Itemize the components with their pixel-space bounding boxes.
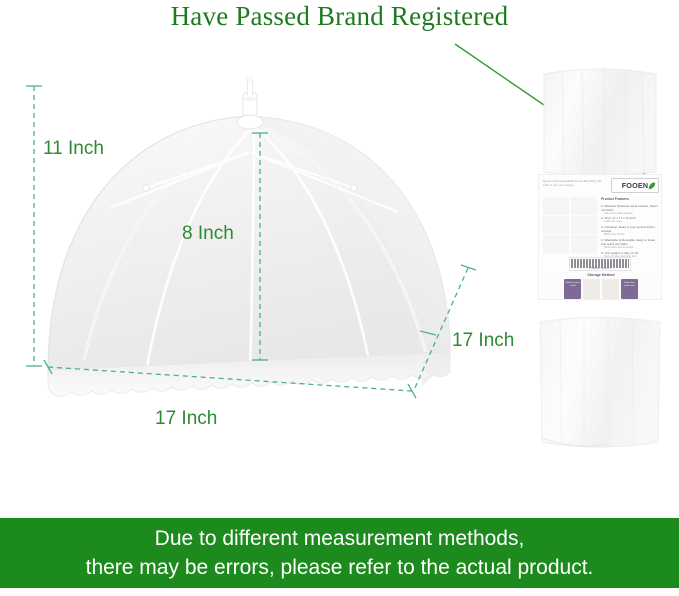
dimension-label-depth: 17 Inch xyxy=(452,330,514,352)
label-header-text: Nylon Umbrella Mesh Food Net Only 30 inc… xyxy=(543,179,605,188)
label-photo xyxy=(543,216,569,234)
storage-method-title: Storage Method xyxy=(539,273,662,277)
leaf-icon xyxy=(648,182,656,190)
storage-step-text: Fold the cover in half xyxy=(565,282,580,288)
product-infographic-page: Have Passed Brand Registered xyxy=(0,0,679,596)
mesh-packaging-bag-bottom xyxy=(534,310,666,455)
product-label-card: Nylon Umbrella Mesh Food Net Only 30 inc… xyxy=(538,174,662,300)
label-photo xyxy=(543,235,569,253)
disclaimer-banner: Due to different measurement methods, th… xyxy=(0,518,679,588)
disclaimer-line-1: Due to different measurement methods, xyxy=(155,525,525,552)
storage-step xyxy=(545,279,562,299)
label-product-features: Product Features 1. Material: Stainless … xyxy=(601,197,659,259)
feature-item: 4. Washable & Reusable: Easy to clean an… xyxy=(601,238,659,249)
feature-sub: Hand wash recommended xyxy=(601,246,659,249)
feature-main: 1. Material: Stainless steel bracket, Ny… xyxy=(601,204,659,212)
storage-method-steps: Fold the cover in half Twist into a smal… xyxy=(545,279,657,299)
label-product-photos xyxy=(543,197,597,253)
product-illustration-stage xyxy=(18,60,518,480)
features-title: Product Features xyxy=(601,197,659,202)
label-card-header: Nylon Umbrella Mesh Food Net Only 30 inc… xyxy=(543,178,659,195)
feature-sub: Large size cover xyxy=(601,220,659,223)
barcode: 7 898541 203647 xyxy=(569,257,631,271)
feature-main: 4. Washable & Reusable: Easy to clean an… xyxy=(601,238,659,246)
page-title: Have Passed Brand Registered xyxy=(0,1,679,32)
storage-step xyxy=(583,279,600,299)
label-photo xyxy=(543,197,569,215)
label-photo xyxy=(571,235,597,253)
storage-step: Twist into a small circle xyxy=(621,279,638,299)
brand-name: FOOEN xyxy=(622,181,649,190)
feature-sub: BBQ, Party, Picnic xyxy=(601,233,659,236)
dimension-label-width: 17 Inch xyxy=(155,408,217,430)
feature-sub: Safe and durable material xyxy=(601,212,659,215)
feature-item: 3. Occasion: Easy to pop up and fold in … xyxy=(601,225,659,236)
storage-step xyxy=(640,279,657,299)
disclaimer-line-2: there may be errors, please refer to the… xyxy=(86,554,594,581)
barcode-bars xyxy=(571,259,629,268)
storage-step xyxy=(602,279,619,299)
feature-main: 3. Occasion: Easy to pop up and fold in … xyxy=(601,225,659,233)
storage-step: Fold the cover in half xyxy=(564,279,581,299)
feature-item: 2. Size: 17 x 17 x 11 Inch Large size co… xyxy=(601,216,659,223)
label-photo xyxy=(571,216,597,234)
feature-item: 1. Material: Stainless steel bracket, Ny… xyxy=(601,204,659,215)
brand-logo: FOOEN xyxy=(611,178,659,193)
mesh-packaging-bag-top xyxy=(534,60,666,175)
storage-step-text: Twist into a small circle xyxy=(622,282,637,288)
mesh-food-cover-umbrella xyxy=(18,60,518,480)
dimension-label-height-inner: 8 Inch xyxy=(182,223,234,245)
dimension-label-height-overall: 11 Inch xyxy=(43,138,104,160)
label-photo xyxy=(571,197,597,215)
barcode-number: 7 898541 203647 xyxy=(571,268,629,271)
